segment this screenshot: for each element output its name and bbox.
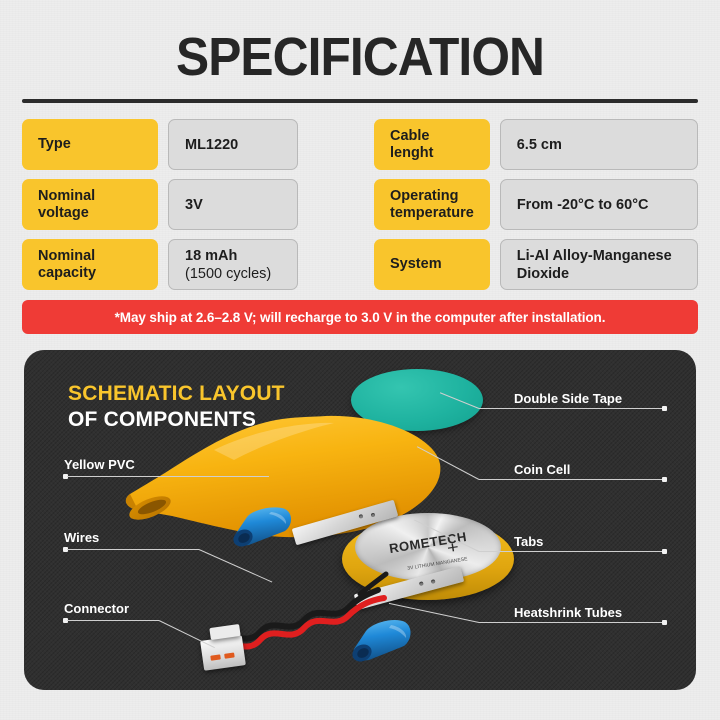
callout-label-double-side-tape: Double Side Tape (514, 391, 622, 406)
leader-line (67, 549, 199, 550)
spec-value-main: 3V (185, 196, 281, 214)
callout-label-yellow-pvc: Yellow PVC (64, 457, 135, 472)
spec-value: From -20°C to 60°C (500, 179, 698, 230)
leader-line (67, 476, 269, 477)
spec-key: Operating temperature (374, 179, 490, 230)
callout-label-wires: Wires (64, 530, 99, 545)
title-divider (22, 99, 698, 103)
connector-part (200, 635, 246, 671)
leader-dot (662, 620, 667, 625)
leader-dot (662, 406, 667, 411)
spec-value: ML1220 (168, 119, 298, 170)
spec-value-sub: Dioxide (517, 265, 681, 283)
tab-hole (371, 513, 376, 518)
spec-key: System (374, 239, 490, 290)
spec-row: Type ML1220 (22, 119, 298, 170)
spec-value-main: From -20°C to 60°C (517, 196, 681, 214)
heatshrink-tube-part (231, 505, 301, 551)
spec-value: Li-Al Alloy-Manganese Dioxide (500, 239, 698, 290)
callout-label-coin-cell: Coin Cell (514, 462, 570, 477)
leader-line (479, 551, 664, 552)
tab-hole (358, 514, 363, 519)
spec-row: Nominal capacity 18 mAh (1500 cycles) (22, 239, 298, 290)
spec-value: 18 mAh (1500 cycles) (168, 239, 298, 290)
spec-key: Cable lenght (374, 119, 490, 170)
spec-key: Type (22, 119, 158, 170)
callout-label-tabs: Tabs (514, 534, 543, 549)
leader-line (479, 408, 664, 409)
spec-row: Cable lenght 6.5 cm (374, 119, 698, 170)
leader-dot (662, 477, 667, 482)
spec-value-sub: (1500 cycles) (185, 265, 281, 283)
spec-value: 3V (168, 179, 298, 230)
spec-key: Nominal capacity (22, 239, 158, 290)
spec-value: 6.5 cm (500, 119, 698, 170)
spec-value-main: 6.5 cm (517, 136, 681, 154)
coin-cell-brand: ROMETECH (355, 524, 501, 562)
leader-line (479, 622, 664, 623)
leader-line (479, 479, 664, 480)
page-title: SPECIFICATION (29, 28, 691, 86)
warning-banner: *May ship at 2.6–2.8 V; will recharge to… (22, 300, 698, 334)
specification-table: Type ML1220 Cable lenght 6.5 cm Nominal … (22, 119, 698, 290)
connector-pin (210, 654, 221, 660)
spec-row: Operating temperature From -20°C to 60°C (374, 179, 698, 230)
spec-row: System Li-Al Alloy-Manganese Dioxide (374, 239, 698, 290)
schematic-panel: SCHEMATIC LAYOUT OF COMPONENTS (24, 350, 696, 690)
tab-hole (431, 579, 436, 584)
spec-row: Nominal voltage 3V (22, 179, 298, 230)
spec-value-main: Li-Al Alloy-Manganese (517, 247, 681, 265)
callout-label-heatshrink-tubes: Heatshrink Tubes (514, 605, 622, 620)
coin-cell-polarity: + (446, 542, 459, 555)
spec-value-main: 18 mAh (185, 247, 281, 265)
warning-text: *May ship at 2.6–2.8 V; will recharge to… (115, 310, 606, 325)
leader-dot (662, 549, 667, 554)
callout-label-connector: Connector (64, 601, 129, 616)
leader-line (67, 620, 159, 621)
connector-pin (224, 652, 235, 658)
spec-key: Nominal voltage (22, 179, 158, 230)
spec-value-main: ML1220 (185, 136, 281, 154)
